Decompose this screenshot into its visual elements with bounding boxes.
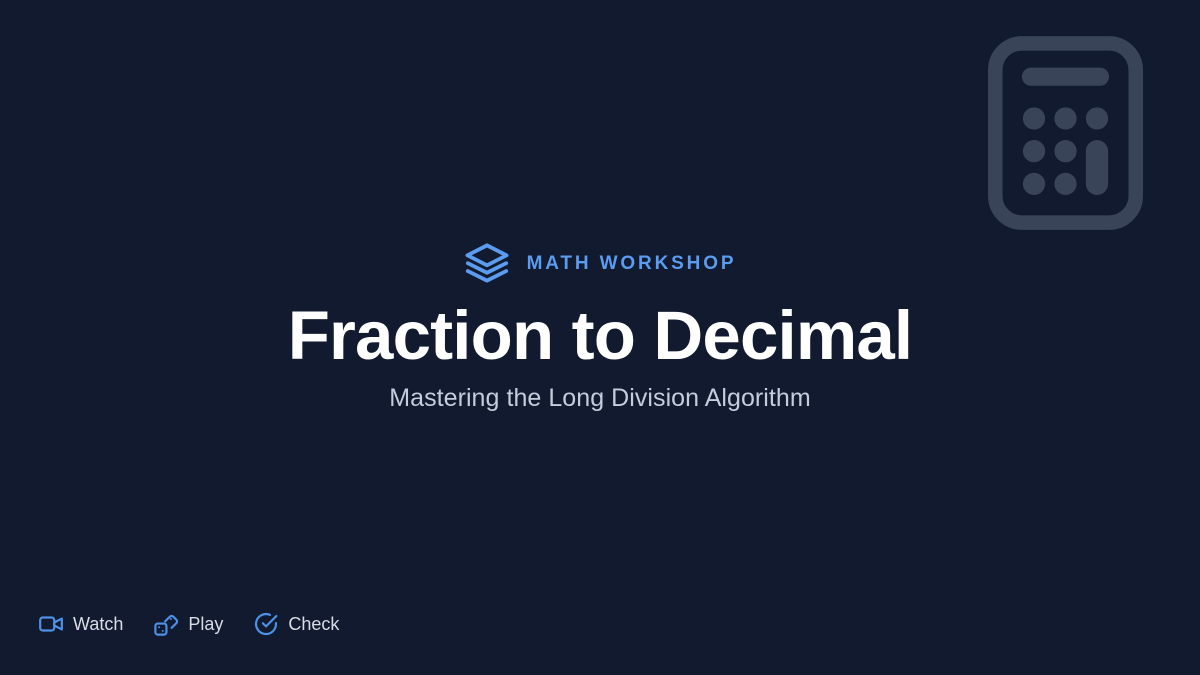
feature-item-watch[interactable]: Watch <box>38 611 123 637</box>
page-title: Fraction to Decimal <box>288 300 913 372</box>
feature-item-play[interactable]: Play <box>153 611 223 637</box>
circle-check-icon <box>253 611 279 637</box>
feature-label-watch: Watch <box>73 615 123 633</box>
feature-item-check[interactable]: Check <box>253 611 339 637</box>
eyebrow: MATH WORKSHOP <box>464 240 737 286</box>
feature-label-check: Check <box>288 615 339 633</box>
feature-label-play: Play <box>188 615 223 633</box>
dice-icon <box>153 611 179 637</box>
feature-row: Watch Play Check <box>38 611 339 637</box>
eyebrow-label: MATH WORKSHOP <box>527 254 737 273</box>
layers-icon <box>464 240 510 286</box>
page-subtitle: Mastering the Long Division Algorithm <box>389 383 811 413</box>
video-camera-icon <box>38 611 64 637</box>
hero-block: MATH WORKSHOP Fraction to Decimal Master… <box>0 0 1200 675</box>
presentation-slide: MATH WORKSHOP Fraction to Decimal Master… <box>0 0 1200 675</box>
